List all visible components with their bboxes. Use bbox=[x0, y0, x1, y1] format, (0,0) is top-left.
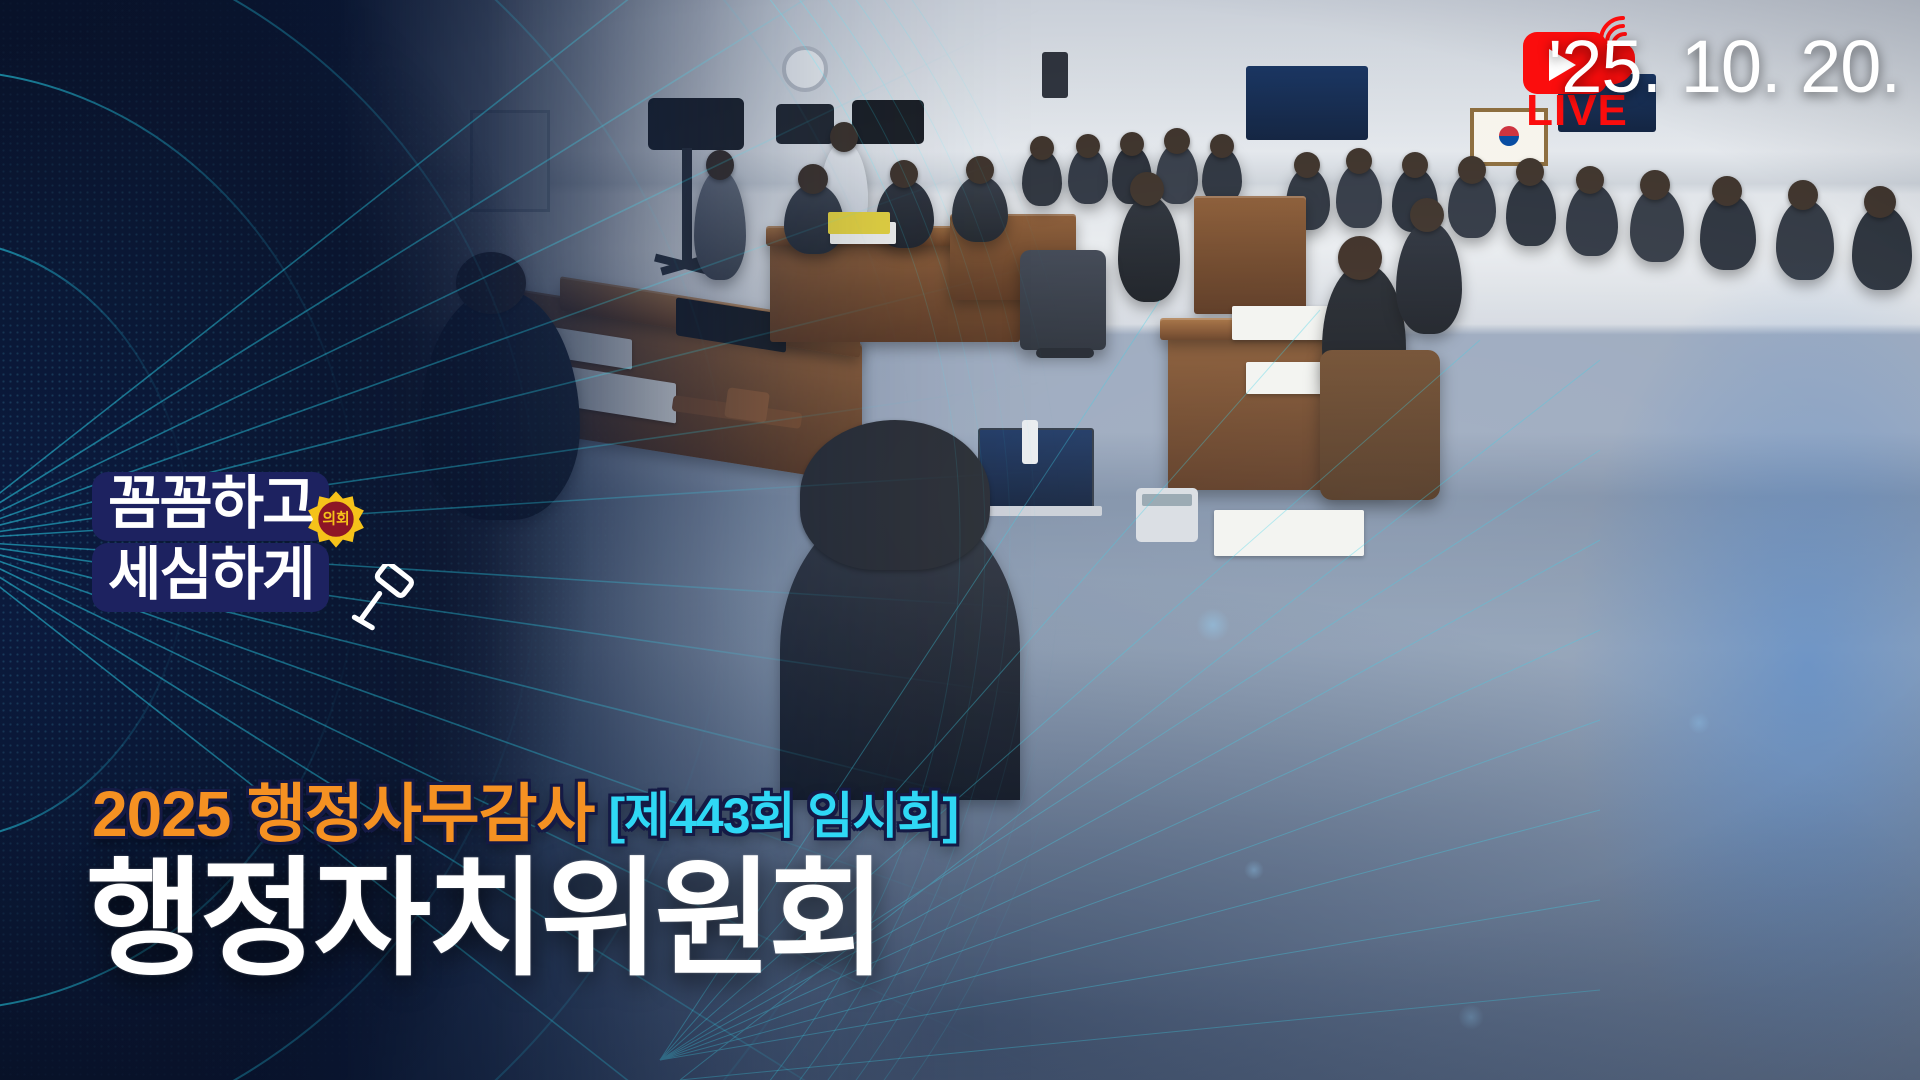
slogan-line-1: 꼼꼼하고 bbox=[92, 472, 329, 541]
person-head bbox=[1130, 172, 1164, 206]
person bbox=[1202, 148, 1242, 204]
gavel-icon bbox=[350, 564, 424, 638]
person-head bbox=[1640, 170, 1670, 200]
person-head bbox=[1788, 180, 1818, 210]
audit-title: 2025 행정사무감사 bbox=[92, 782, 594, 846]
person-head bbox=[1864, 186, 1896, 218]
person-head bbox=[1410, 198, 1444, 232]
title-row: 2025 행정사무감사 [제443회 임시회] bbox=[92, 782, 958, 846]
person bbox=[1156, 144, 1198, 204]
committee-name: 행정자치위원회 bbox=[86, 856, 882, 984]
witness-podium bbox=[1194, 196, 1306, 314]
person-head bbox=[1516, 158, 1544, 186]
person bbox=[1852, 206, 1912, 290]
broadcast-date: '25. 10. 20. bbox=[1548, 30, 1900, 104]
broadcast-title-card: LIVE '25. 10. 20. 꼼꼼하고 세심하게 의회 2025 행정사무 bbox=[0, 0, 1920, 1080]
person-head bbox=[1402, 152, 1428, 178]
bokeh-dot bbox=[1196, 608, 1230, 642]
person-head bbox=[1338, 236, 1382, 280]
person-head bbox=[1346, 148, 1372, 174]
person bbox=[1392, 168, 1438, 232]
slogan-block: 꼼꼼하고 세심하게 의회 bbox=[92, 472, 412, 612]
assembly-seal-icon: 의회 bbox=[305, 490, 367, 552]
person bbox=[1448, 172, 1496, 238]
person bbox=[1776, 200, 1834, 280]
person-head bbox=[1210, 134, 1234, 158]
person bbox=[1630, 188, 1684, 262]
person bbox=[1068, 148, 1108, 204]
slogan-line-2: 세심하게 bbox=[92, 543, 329, 612]
person bbox=[1566, 184, 1618, 256]
person-witness bbox=[1118, 196, 1180, 302]
person-head bbox=[1458, 156, 1486, 184]
wall-monitor bbox=[1246, 66, 1368, 140]
person bbox=[1700, 194, 1756, 270]
person-head bbox=[1576, 166, 1604, 194]
person-head bbox=[1294, 152, 1320, 178]
person-head bbox=[1164, 128, 1190, 154]
bokeh-dot bbox=[1458, 1004, 1484, 1030]
person bbox=[1506, 176, 1556, 246]
session-label: [제443회 임시회] bbox=[608, 791, 958, 846]
person-head bbox=[1120, 132, 1144, 156]
emblem-text: 의회 bbox=[322, 509, 349, 527]
bokeh-dot bbox=[1244, 860, 1264, 880]
person bbox=[1336, 164, 1382, 228]
person bbox=[1112, 146, 1152, 204]
person-head bbox=[1712, 176, 1742, 206]
person bbox=[1286, 168, 1330, 230]
person-head bbox=[1076, 134, 1100, 158]
bokeh-dot bbox=[1688, 712, 1710, 734]
